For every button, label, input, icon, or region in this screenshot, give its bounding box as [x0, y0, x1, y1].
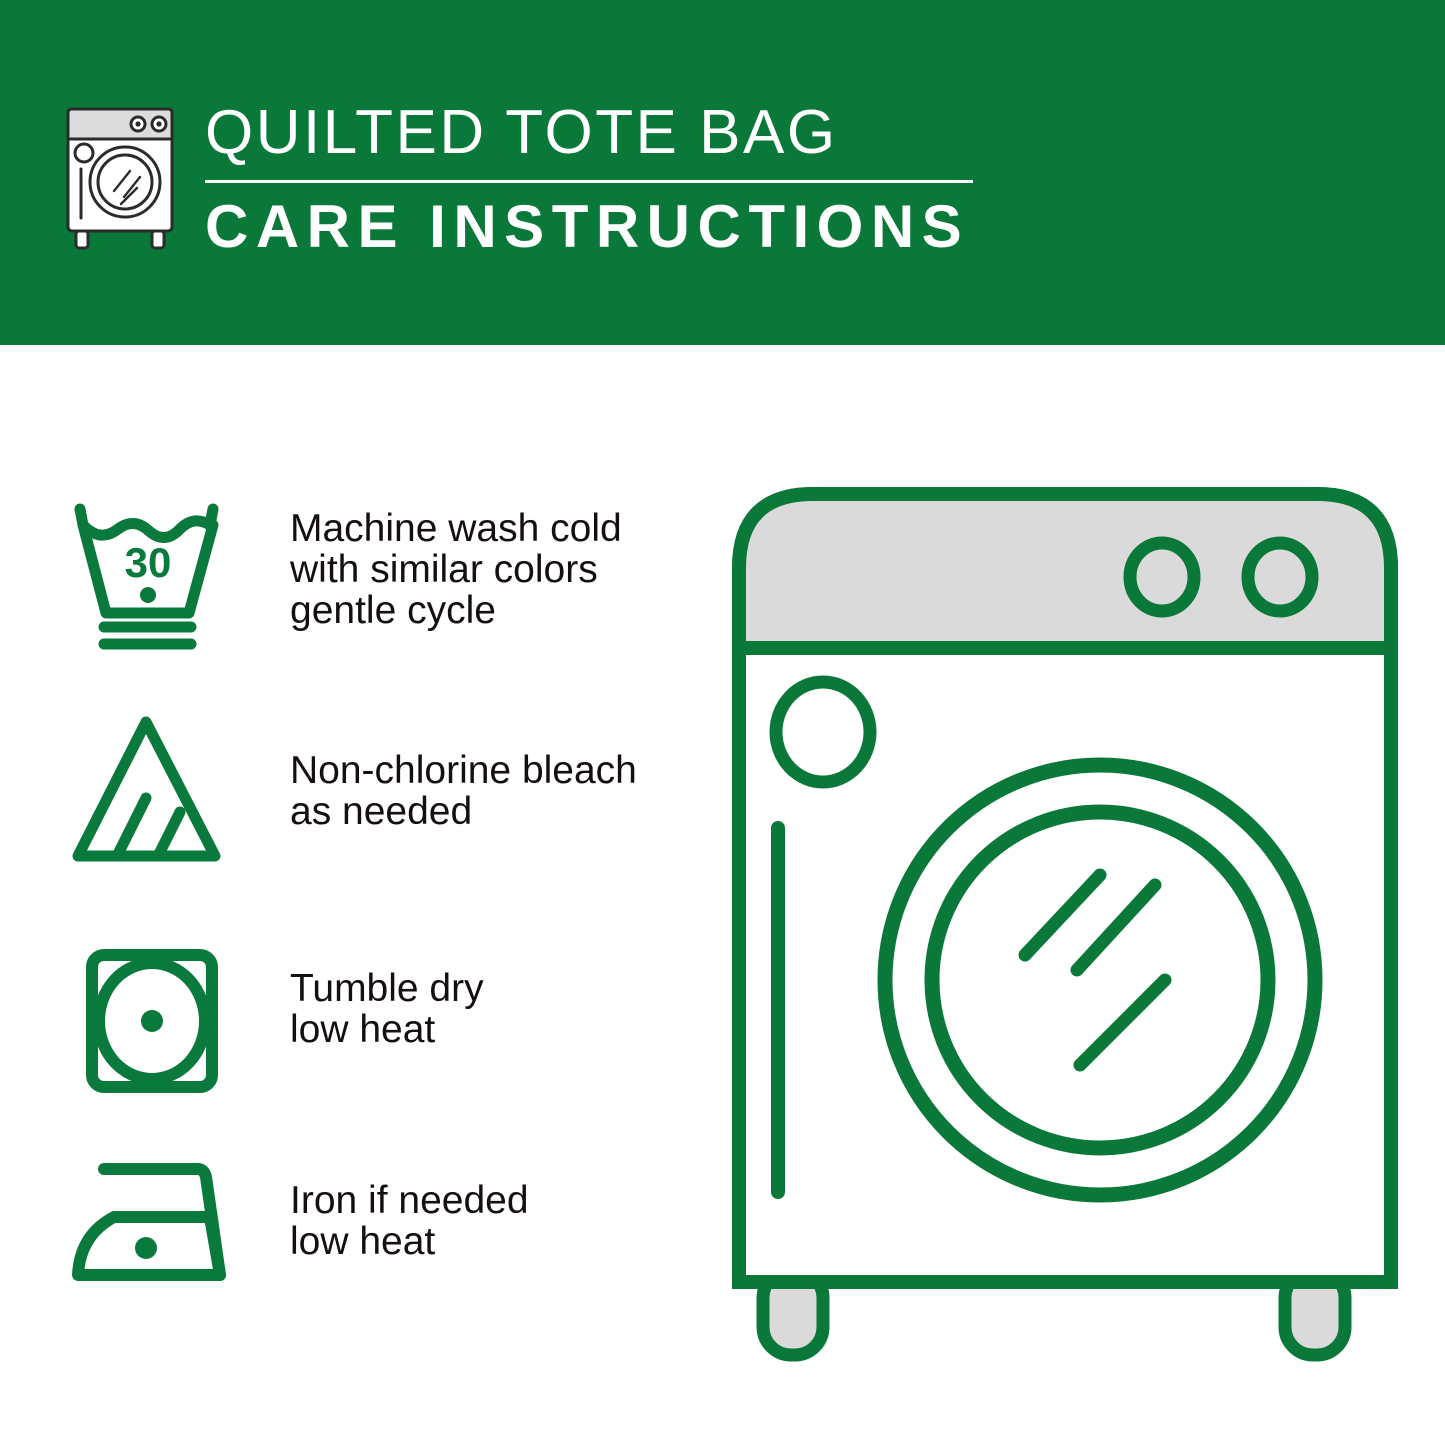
machine-knob-left: [1130, 543, 1194, 611]
page-subtitle: CARE INSTRUCTIONS: [205, 195, 985, 259]
care-text-line: with similar colors: [290, 549, 690, 590]
care-text-line: Tumble dry: [290, 968, 690, 1009]
care-text-line: Machine wash cold: [290, 508, 690, 549]
care-text-iron: Iron if needed low heat: [290, 1180, 690, 1262]
care-instructions-page: QUILTED TOTE BAG CARE INSTRUCTIONS 30: [0, 0, 1445, 1445]
header-banner: QUILTED TOTE BAG CARE INSTRUCTIONS: [0, 0, 1445, 345]
care-text-line: Iron if needed: [290, 1180, 690, 1221]
care-text-line: as needed: [290, 791, 690, 832]
care-text-tumble-dry: Tumble dry low heat: [290, 968, 690, 1050]
care-row-machine-wash: 30 Machine wash cold with similar colors…: [0, 495, 700, 665]
iron-icon: [70, 1155, 240, 1325]
large-washing-machine-illustration: [725, 480, 1405, 1370]
care-row-bleach: Non-chlorine bleach as needed: [0, 710, 700, 880]
machine-indicator-light: [776, 682, 870, 782]
tumble-dry-icon: [70, 945, 240, 1115]
care-text-machine-wash: Machine wash cold with similar colors ge…: [290, 508, 690, 631]
page-title: QUILTED TOTE BAG: [205, 100, 985, 166]
non-chlorine-bleach-triangle-icon: [70, 710, 240, 880]
care-row-tumble-dry: Tumble dry low heat: [0, 945, 700, 1115]
care-text-line: Non-chlorine bleach: [290, 750, 690, 791]
washing-machine-icon: [62, 103, 182, 253]
care-row-iron: Iron if needed low heat: [0, 1155, 700, 1325]
wash-temperature-label: 30: [125, 539, 172, 586]
care-text-line: low heat: [290, 1009, 690, 1050]
machine-knob-right: [1248, 543, 1312, 611]
care-text-line: low heat: [290, 1221, 690, 1262]
care-text-line: gentle cycle: [290, 590, 690, 631]
machine-door-inner: [932, 812, 1268, 1148]
header-title-block: QUILTED TOTE BAG CARE INSTRUCTIONS: [205, 100, 985, 259]
title-divider: [205, 180, 973, 183]
machine-wash-tub-icon: 30: [70, 495, 240, 665]
care-text-bleach: Non-chlorine bleach as needed: [290, 750, 690, 832]
